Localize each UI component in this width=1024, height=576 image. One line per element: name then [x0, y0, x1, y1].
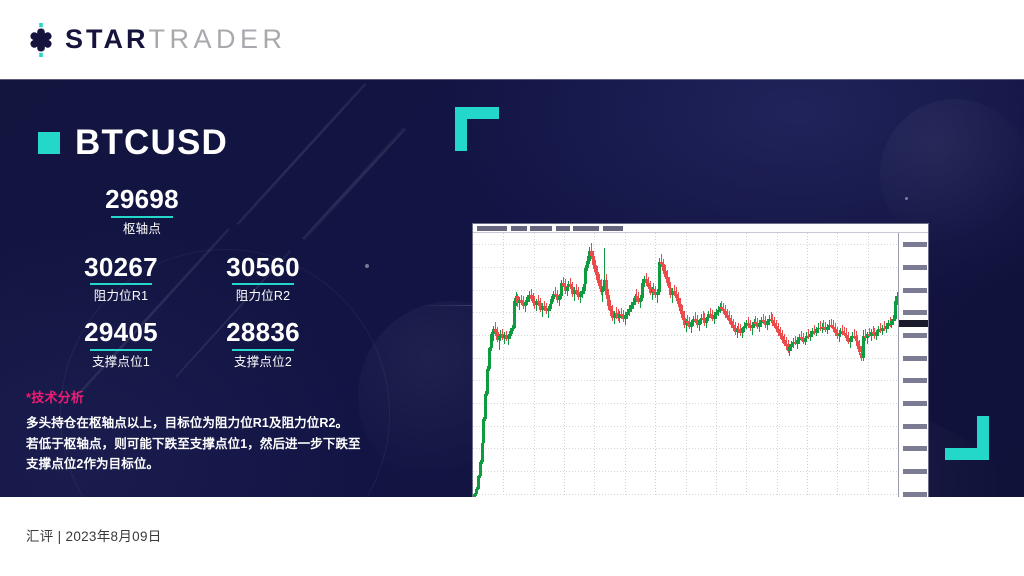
app-footer: 汇评 | 2023年8月09日 — [0, 497, 1024, 576]
brand-name-star: STAR — [65, 24, 149, 54]
price-axis-tick — [903, 401, 927, 406]
corner-bracket-bottom-right — [945, 416, 989, 460]
chart-title-text — [603, 226, 623, 231]
pivot-label: 枢轴点 — [64, 222, 220, 237]
level-s1-value: 29405 — [50, 319, 192, 346]
pivot-value: 29698 — [64, 186, 220, 213]
corner-bracket-top-left — [455, 107, 499, 151]
level-s1: 29405 支撑点位1 — [50, 319, 192, 370]
price-axis[interactable] — [898, 233, 928, 497]
technical-analysis-title: *技术分析 — [26, 387, 426, 406]
technical-analysis-line-3: 支撑点位2作为目标位。 — [26, 454, 426, 475]
symbol-row: BTCUSD — [38, 125, 438, 160]
symbol-accent-square — [38, 132, 60, 154]
app-header: STARTRADER — [0, 0, 1024, 79]
price-axis-tick — [903, 310, 927, 315]
technical-analysis-line-2: 若低于枢轴点，则可能下跌至支撑点位1，然后进一步下跌至 — [26, 434, 426, 455]
level-r1-underline — [90, 283, 152, 285]
chart-plot-area[interactable] — [473, 233, 928, 497]
level-s2-underline — [232, 349, 294, 351]
level-s1-label: 支撑点位1 — [50, 355, 192, 370]
technical-analysis-line-1: 多头持仓在枢轴点以上，目标位为阻力位R1及阻力位R2。 — [26, 413, 426, 434]
level-s2-label: 支撑点位2 — [192, 355, 334, 370]
price-axis-tick — [903, 333, 927, 338]
level-r2-underline — [232, 283, 294, 285]
level-r2-label: 阻力位R2 — [192, 289, 334, 304]
chart-title-text — [477, 226, 507, 231]
candlestick-plot[interactable] — [473, 233, 898, 497]
pivot-underline — [111, 216, 173, 218]
footer-caption: 汇评 | 2023年8月09日 — [26, 525, 162, 545]
star-asterisk-icon — [24, 23, 58, 57]
chart-title-text — [530, 226, 552, 231]
level-r2: 30560 阻力位R2 — [192, 254, 334, 305]
instrument-panel: BTCUSD 29698 枢轴点 30267 阻力位R1 30560 阻力位R2… — [38, 125, 438, 370]
level-r2-value: 30560 — [192, 254, 334, 281]
level-s2: 28836 支撑点位2 — [192, 319, 334, 370]
level-r1: 30267 阻力位R1 — [50, 254, 192, 305]
levels-row-support: 29405 支撑点位1 28836 支撑点位2 — [50, 319, 438, 370]
stage-top-divider — [0, 79, 1024, 80]
level-r1-value: 30267 — [50, 254, 192, 281]
deco-dot-3 — [905, 197, 908, 200]
price-axis-tick — [903, 446, 927, 451]
levels-row-resistance: 30267 阻力位R1 30560 阻力位R2 — [50, 254, 438, 305]
chart-titlebar — [473, 224, 928, 233]
level-r1-label: 阻力位R1 — [50, 289, 192, 304]
current-price-label — [898, 320, 928, 327]
price-axis-tick — [903, 288, 927, 293]
price-axis-tick — [903, 242, 927, 247]
level-s2-value: 28836 — [192, 319, 334, 346]
technical-analysis: *技术分析 多头持仓在枢轴点以上，目标位为阻力位R1及阻力位R2。 若低于枢轴点… — [26, 387, 426, 475]
chart-title-text — [556, 226, 570, 231]
price-axis-tick — [903, 265, 927, 270]
level-s1-underline — [90, 349, 152, 351]
chart-window[interactable] — [472, 223, 929, 497]
main-stage: BTCUSD 29698 枢轴点 30267 阻力位R1 30560 阻力位R2… — [0, 79, 1024, 497]
brand-name-trader: TRADER — [149, 24, 287, 54]
price-axis-tick — [903, 469, 927, 474]
price-axis-tick — [903, 356, 927, 361]
page-title: BTCUSD — [75, 125, 228, 160]
brand-logo[interactable]: STARTRADER — [24, 23, 287, 57]
chart-title-text — [511, 226, 527, 231]
price-axis-tick — [903, 424, 927, 429]
price-axis-tick — [903, 378, 927, 383]
chart-title-text — [573, 226, 599, 231]
brand-name: STARTRADER — [65, 26, 287, 53]
pivot-block: 29698 枢轴点 — [64, 186, 220, 237]
